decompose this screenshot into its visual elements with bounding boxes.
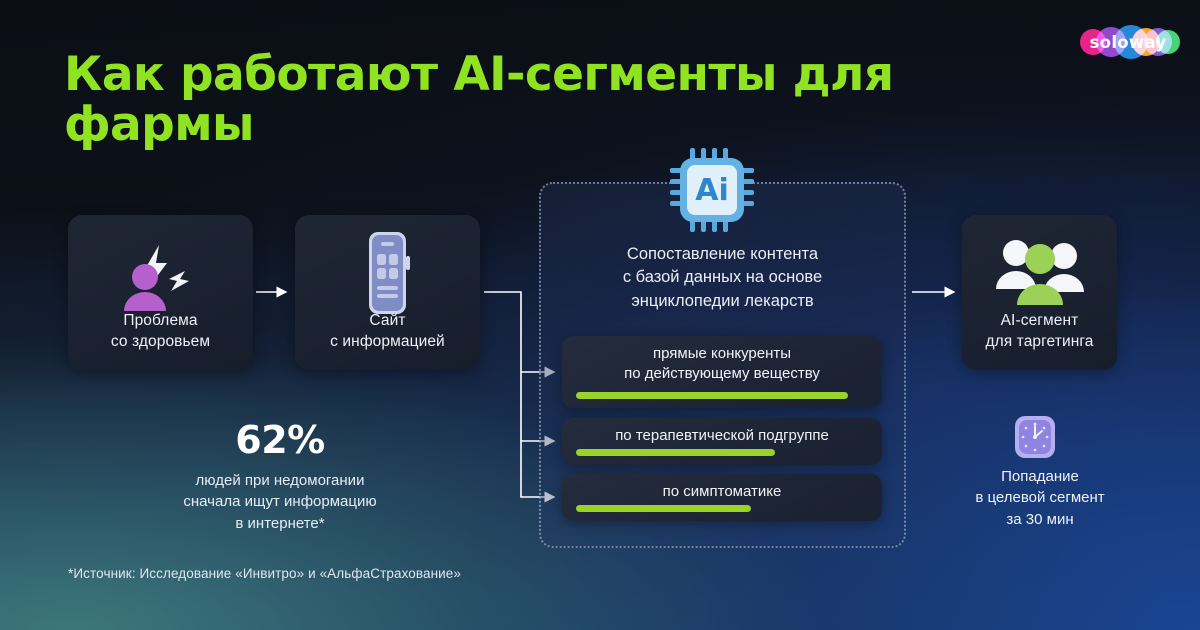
panel-item-label: по симптоматике (572, 482, 872, 502)
smartphone-icon (295, 233, 480, 313)
clock-icon (1013, 412, 1057, 462)
panel-item-direct-competitors: прямые конкурентыпо действующему веществ… (562, 336, 882, 408)
statistic-block: 62% людей при недомоганиисначала ищут ин… (105, 418, 455, 534)
panel-heading: Сопоставление контентас базой данных на … (545, 243, 900, 313)
flow-step-problem: Проблемасо здоровьем (68, 215, 253, 370)
ai-chip-icon: Ai (668, 146, 756, 234)
flow-result-ai-segment: AI-сегментдля таргетинга (962, 215, 1117, 370)
statistic-description: людей при недомоганиисначала ищут информ… (105, 470, 455, 534)
people-group-icon (962, 233, 1117, 313)
panel-item-bar (576, 392, 848, 399)
panel-item-symptoms: по симптоматике (562, 474, 882, 521)
outcome-label: Попаданиев целевой сегментза 30 мин (925, 466, 1155, 530)
flow-step-site: Сайтс информацией (295, 215, 480, 370)
footnote-source: *Источник: Исследование «Инвитро» и «Аль… (68, 566, 461, 581)
person-with-pain-icon (68, 233, 253, 313)
flow-step-label: Сайтс информацией (330, 311, 445, 370)
statistic-value: 62% (105, 418, 455, 462)
panel-item-therapeutic-subgroup: по терапевтической подгруппе (562, 418, 882, 465)
ai-chip-label: Ai (695, 173, 729, 208)
soloway-logo: soloway (1074, 22, 1182, 62)
panel-item-label: по терапевтической подгруппе (572, 426, 872, 446)
panel-item-bar (576, 505, 751, 512)
flow-result-label: AI-сегментдля таргетинга (985, 311, 1093, 370)
panel-item-bar (576, 449, 775, 456)
panel-item-label: прямые конкурентыпо действующему веществ… (572, 344, 872, 383)
infographic-canvas: soloway Как работают AI-сегменты для фар… (0, 0, 1200, 630)
flow-step-label: Проблемасо здоровьем (111, 311, 210, 370)
logo-wordmark: soloway (1074, 22, 1182, 62)
page-title: Как работают AI-сегменты для фармы (64, 50, 1064, 150)
